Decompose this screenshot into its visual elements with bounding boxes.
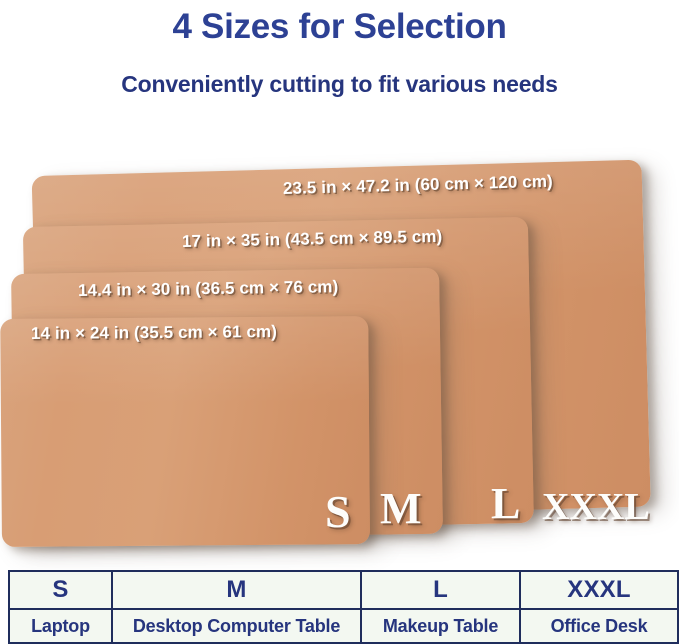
table-cell-size-l: L [361, 571, 520, 609]
table-row-sizes: S M L XXXL [9, 571, 678, 609]
table-cell-use-s: Laptop [9, 609, 112, 643]
table-cell-size-xxxl: XXXL [520, 571, 678, 609]
mat-panel-s [0, 316, 370, 547]
size-letter-m: M [380, 487, 422, 531]
table-row-uses: Laptop Desktop Computer Table Makeup Tab… [9, 609, 678, 643]
dimension-label-s: 14 in × 24 in (35.5 cm × 61 cm) [31, 322, 277, 344]
dimension-label-m: 14.4 in × 30 in (36.5 cm × 76 cm) [78, 277, 339, 301]
table-cell-use-xxxl: Office Desk [520, 609, 678, 643]
table-cell-size-s: S [9, 571, 112, 609]
mat-size-illustration: 23.5 in × 47.2 in (60 cm × 120 cm) 17 in… [0, 0, 679, 570]
size-letter-xxxl: XXXL [542, 488, 650, 526]
table-cell-use-l: Makeup Table [361, 609, 520, 643]
size-usage-table: S M L XXXL Laptop Desktop Computer Table… [8, 570, 679, 644]
size-letter-s: S [325, 489, 351, 535]
table-cell-use-m: Desktop Computer Table [112, 609, 361, 643]
table-cell-size-m: M [112, 571, 361, 609]
size-letter-l: L [491, 482, 520, 526]
